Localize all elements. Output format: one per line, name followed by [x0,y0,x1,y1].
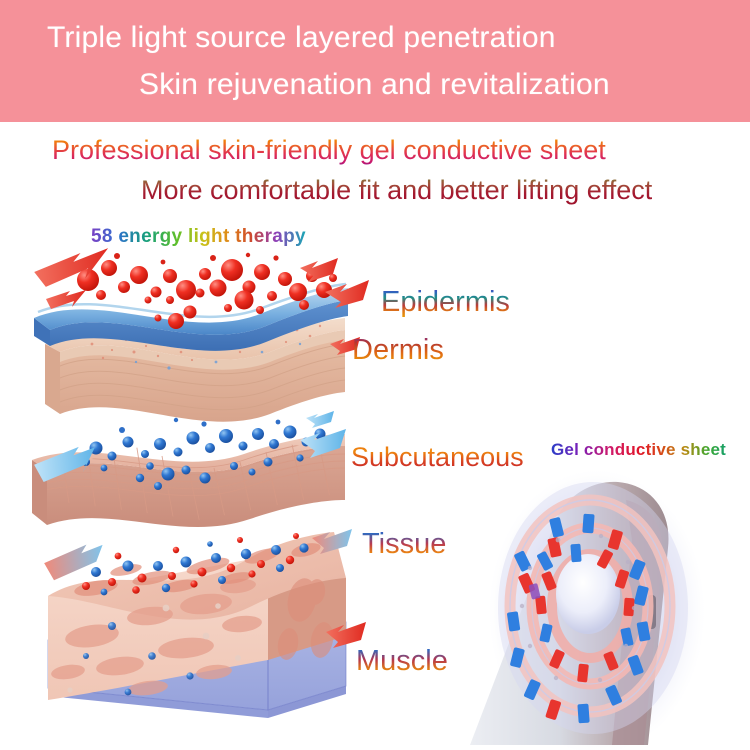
banner-headline-primary: Triple light source layered penetration [47,21,556,55]
banner-headline-secondary: Skin rejuvenation and revitalization [139,68,610,102]
led-chips-outer [507,514,651,724]
arrow-subcutaneous-right-upper [306,411,334,428]
subtitle-gel-sheet: Professional skin-friendly gel conductiv… [52,135,606,166]
label-energy-light-therapy: 58 energy light therapy [91,226,306,248]
arrow-dermis-left [46,290,86,309]
label-subcutaneous: Subcutaneous [351,442,524,473]
arrow-tissue-right [312,529,352,554]
label-gel-conductive-sheet: Gel conductive sheet [551,440,726,460]
header-banner: Triple light source layered penetration … [0,0,750,122]
label-dermis: Dermis [352,334,444,367]
subtitle-lifting-effect: More comfortable fit and better lifting … [141,175,652,206]
label-tissue: Tissue [362,528,446,561]
subcutaneous-group [32,411,346,527]
arrow-subcutaneous-right [300,429,346,458]
label-muscle: Muscle [356,645,448,678]
dermis-slab [45,318,345,422]
epidermis-sheet [34,284,348,351]
infographic-page: Triple light source layered penetration … [0,0,750,750]
tissue-muscle-group [43,529,366,718]
arrow-subcutaneous-left [33,445,98,482]
device-head-group [470,470,705,750]
led-chips-inner [528,544,634,683]
arrow-tissue-left [43,543,106,581]
blue-energy-particles [82,418,326,490]
arrow-epidermis-right [325,280,369,308]
arrow-epidermis-left [33,248,112,288]
label-epidermis: Epidermis [381,286,510,319]
epidermis-dermis-group [33,248,369,422]
arrow-epidermis-right-upper [300,258,338,282]
tissue-particles [82,533,309,595]
red-energy-particles [77,253,337,329]
